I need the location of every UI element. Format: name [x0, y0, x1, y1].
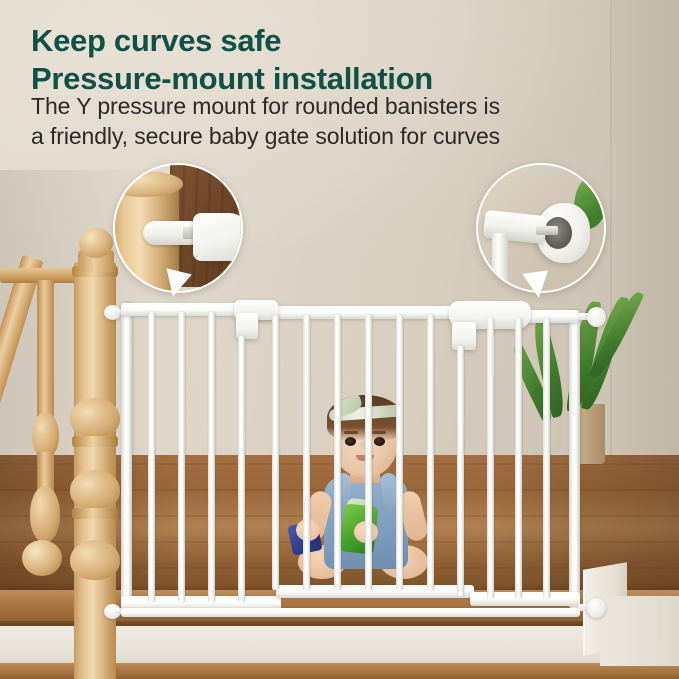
product-feature-image: Keep curves safe Pressure-mount installa… [0, 0, 679, 679]
gate-bar [148, 312, 155, 602]
threaded-bolt [536, 226, 558, 235]
gate-bar [334, 315, 341, 590]
page-subtitle: The Y pressure mount for rounded baniste… [31, 92, 641, 152]
gate-bar [365, 315, 372, 590]
gate-bar [515, 318, 522, 598]
y-pressure-mount-body [193, 213, 243, 261]
gate-bar [178, 312, 185, 602]
gate-left-post [121, 303, 132, 608]
gate-bar [396, 315, 403, 590]
gate-bar [543, 318, 550, 598]
right-top-mount-cup [587, 307, 606, 327]
subheadline-line-2: a friendly, secure baby gate solution fo… [31, 122, 641, 152]
gate-bottom-threshold-bar [121, 608, 580, 617]
subheadline-line-1: The Y pressure mount for rounded baniste… [31, 92, 641, 122]
headline-line-1: Keep curves safe [31, 22, 631, 60]
gate-bar [303, 315, 310, 590]
gate-bar [238, 336, 245, 602]
gate-latch-column [452, 322, 476, 350]
gate-mount-stem [492, 233, 508, 291]
gate-bar [272, 315, 279, 590]
page-title: Keep curves safe Pressure-mount installa… [31, 22, 631, 98]
gate-right-post [569, 310, 580, 608]
gate-bar [487, 318, 494, 598]
gate-bar [427, 315, 434, 590]
right-bottom-mount-cup [587, 598, 606, 618]
right-callout-pointer [522, 270, 551, 299]
gate-bar [208, 312, 215, 602]
gate-bar [457, 346, 464, 596]
